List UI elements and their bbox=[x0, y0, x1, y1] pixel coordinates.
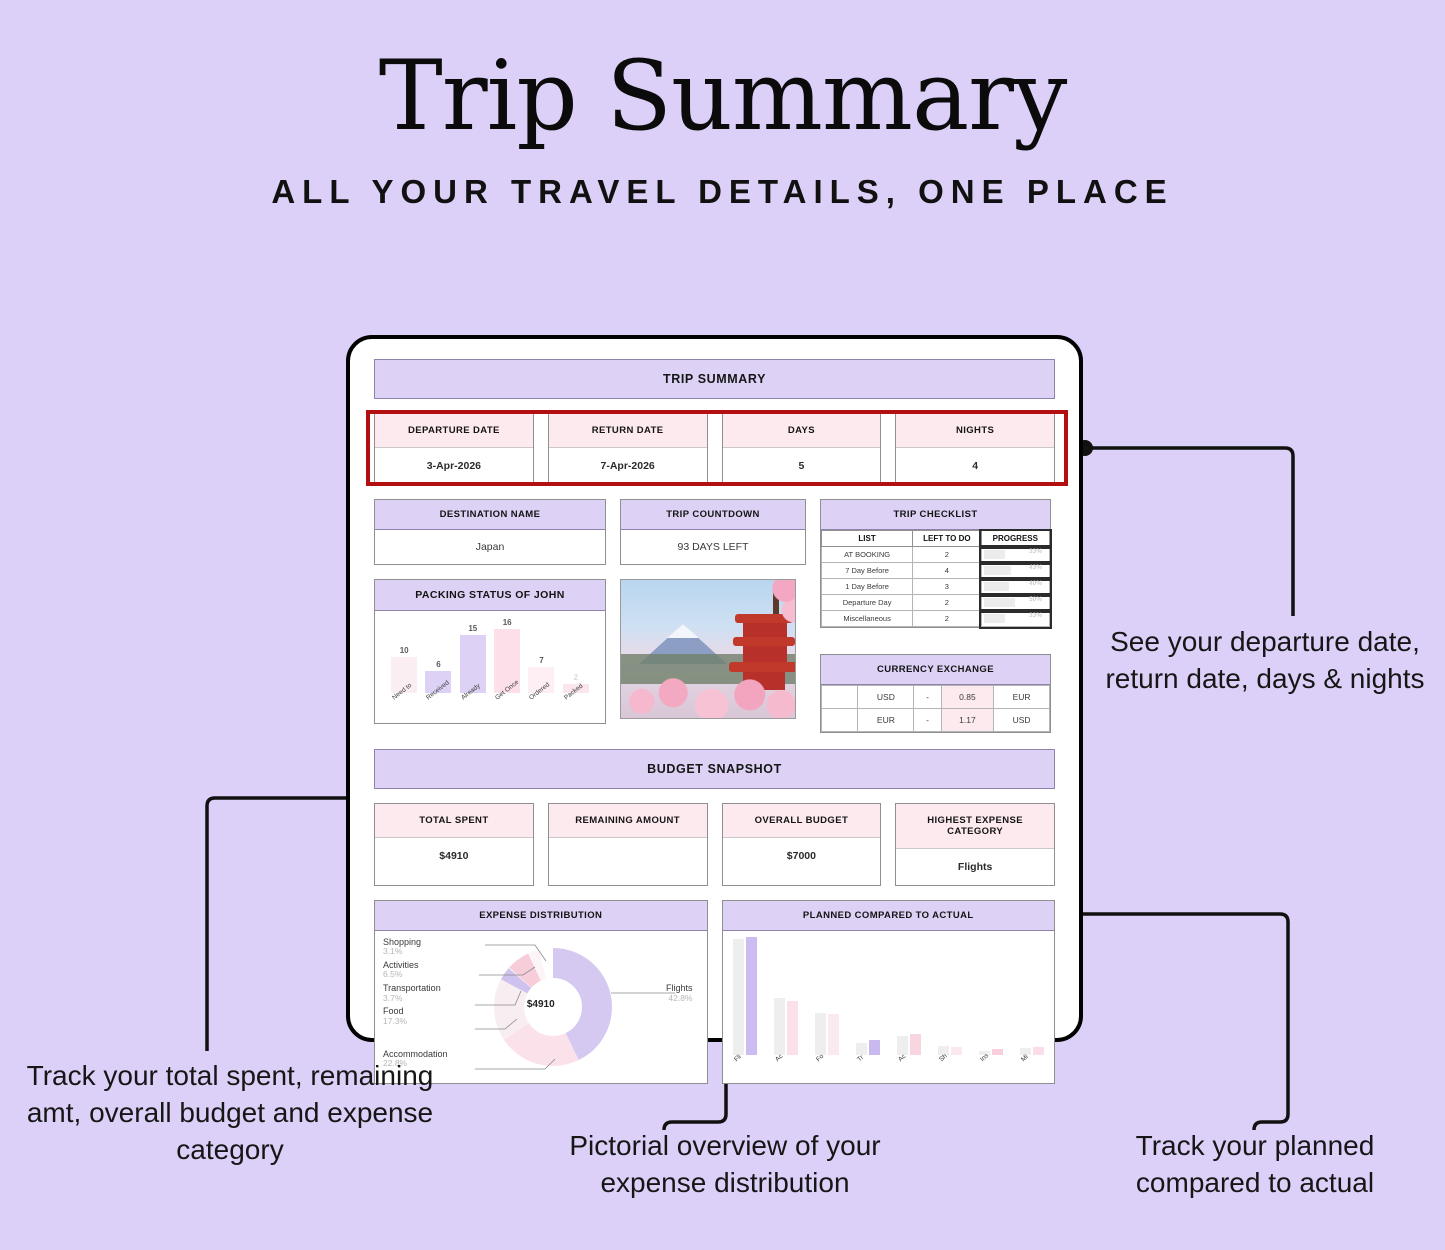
kpi-value: 7-Apr-2026 bbox=[549, 448, 707, 484]
cell-progress: 33% bbox=[981, 611, 1049, 627]
cell-rate: 0.85 bbox=[941, 686, 993, 709]
kpi-value: 5 bbox=[723, 448, 881, 484]
bar-planned bbox=[774, 998, 785, 1055]
currency-exchange-panel[interactable]: CURRENCY EXCHANGE USD - 0.85 EUR EUR - 1… bbox=[820, 654, 1051, 733]
cell-left: 2 bbox=[913, 547, 981, 563]
pva-bars bbox=[733, 937, 1045, 1055]
donut-center-total: $4910 bbox=[375, 999, 707, 1010]
bar-value: 16 bbox=[503, 618, 512, 627]
progress-bar: 50% bbox=[984, 598, 1047, 607]
kpi-value: Flights bbox=[896, 849, 1054, 885]
cell-from: USD bbox=[858, 686, 914, 709]
pva-x-axis: Fli Ac Fo Tr Ac Sh Ins Mi bbox=[733, 1055, 1045, 1081]
legend-label: Transportation bbox=[383, 983, 441, 993]
group-shopping bbox=[938, 937, 962, 1055]
col-progress: PROGRESS bbox=[981, 531, 1049, 547]
page-subtitle: ALL YOUR TRAVEL DETAILS, ONE PLACE bbox=[0, 173, 1445, 211]
progress-label: 40% bbox=[1029, 580, 1042, 587]
currency-table[interactable]: USD - 0.85 EUR EUR - 1.17 USD bbox=[821, 685, 1050, 732]
cell-dash: - bbox=[914, 709, 941, 732]
legend-label: Flights bbox=[666, 983, 693, 993]
kpi-label: OVERALL BUDGET bbox=[723, 804, 881, 838]
cherry-blossoms-foreground bbox=[621, 676, 795, 718]
trip-countdown-panel[interactable]: TRIP COUNTDOWN 93 DAYS LEFT bbox=[620, 499, 806, 565]
charts-row: EXPENSE DISTRIBUTION bbox=[374, 900, 1055, 1084]
kpi-label: TOTAL SPENT bbox=[375, 804, 533, 838]
donut-legend-left: Shopping 3.1% Activities 6.5% Transporta… bbox=[383, 937, 441, 1029]
cell-list: Departure Day bbox=[822, 595, 913, 611]
packing-chart-title: PACKING STATUS OF JOHN bbox=[375, 580, 605, 611]
kpi-total-spent[interactable]: TOTAL SPENT $4910 bbox=[374, 803, 534, 886]
bar-value: 15 bbox=[468, 624, 477, 633]
cell-progress: 50% bbox=[981, 595, 1049, 611]
legend-value: 3.1% bbox=[383, 947, 441, 957]
countdown-label: TRIP COUNTDOWN bbox=[621, 500, 805, 530]
progress-label: 43% bbox=[1029, 564, 1042, 571]
group-insurance bbox=[979, 937, 1003, 1055]
callout-planned: Track your planned compared to actual bbox=[1075, 1128, 1435, 1202]
kpi-label: NIGHTS bbox=[896, 414, 1054, 448]
trip-dates-row: DEPARTURE DATE 3-Apr-2026 RETURN DATE 7-… bbox=[374, 413, 1055, 485]
table-row[interactable]: Miscellaneous 2 33% bbox=[822, 611, 1050, 627]
kpi-value: 3-Apr-2026 bbox=[375, 448, 533, 484]
trip-checklist-panel[interactable]: TRIP CHECKLIST LIST LEFT TO DO PROGRESS … bbox=[820, 499, 1051, 628]
pva-body: Fli Ac Fo Tr Ac Sh Ins Mi bbox=[723, 931, 1055, 1083]
checklist-column: TRIP CHECKLIST LIST LEFT TO DO PROGRESS … bbox=[820, 499, 1051, 733]
progress-fill bbox=[984, 550, 1005, 559]
progress-fill bbox=[984, 582, 1009, 591]
currency-title: CURRENCY EXCHANGE bbox=[821, 655, 1050, 685]
expense-distribution-chart[interactable]: EXPENSE DISTRIBUTION bbox=[374, 900, 708, 1084]
kpi-remaining-amount[interactable]: REMAINING AMOUNT bbox=[548, 803, 708, 886]
pagoda-body-2 bbox=[743, 646, 787, 662]
packing-chart-body: 10 6 15 16 bbox=[375, 611, 605, 723]
progress-bar: 40% bbox=[984, 582, 1047, 591]
kpi-label: REMAINING AMOUNT bbox=[549, 804, 707, 838]
progress-bar: 43% bbox=[984, 566, 1047, 575]
table-header-row: LIST LEFT TO DO PROGRESS bbox=[822, 531, 1050, 547]
group-accommodation bbox=[774, 937, 798, 1055]
mount-fuji-photo bbox=[620, 579, 796, 719]
bar-ordered: 7 bbox=[528, 615, 554, 693]
group-food bbox=[815, 937, 839, 1055]
group-flights bbox=[733, 937, 757, 1055]
cell-from: EUR bbox=[858, 709, 914, 732]
trip-summary-card: TRIP SUMMARY DEPARTURE DATE 3-Apr-2026 R… bbox=[346, 335, 1083, 1042]
callout-expense: Pictorial overview of your expense distr… bbox=[515, 1128, 935, 1202]
planned-vs-actual-chart[interactable]: PLANNED COMPARED TO ACTUAL bbox=[722, 900, 1056, 1084]
countdown-column: TRIP COUNTDOWN 93 DAYS LEFT bbox=[620, 499, 806, 719]
destination-panel[interactable]: DESTINATION NAME Japan bbox=[374, 499, 606, 565]
cell-dash: - bbox=[914, 686, 941, 709]
cell-to: EUR bbox=[994, 686, 1050, 709]
kpi-return-date[interactable]: RETURN DATE 7-Apr-2026 bbox=[548, 413, 708, 485]
progress-bar: 33% bbox=[984, 614, 1047, 623]
table-row[interactable]: 1 Day Before 3 40% bbox=[822, 579, 1050, 595]
pagoda-roof-3 bbox=[729, 662, 796, 672]
progress-label: 50% bbox=[1029, 596, 1042, 603]
info-row: DESTINATION NAME Japan PACKING STATUS OF… bbox=[374, 499, 1055, 733]
cell-list: 7 Day Before bbox=[822, 563, 913, 579]
trip-summary-banner: TRIP SUMMARY bbox=[374, 359, 1055, 399]
checklist-table[interactable]: LIST LEFT TO DO PROGRESS AT BOOKING 2 33… bbox=[821, 530, 1050, 627]
kpi-label: HIGHEST EXPENSE CATEGORY bbox=[896, 804, 1054, 849]
cell-list: 1 Day Before bbox=[822, 579, 913, 595]
kpi-label: RETURN DATE bbox=[549, 414, 707, 448]
cell-to: USD bbox=[994, 709, 1050, 732]
cell-blank bbox=[822, 686, 858, 709]
kpi-value: 4 bbox=[896, 448, 1054, 484]
kpi-label: DEPARTURE DATE bbox=[375, 414, 533, 448]
cell-list: Miscellaneous bbox=[822, 611, 913, 627]
fuji-snowcap bbox=[667, 624, 699, 638]
group-activities bbox=[897, 937, 921, 1055]
progress-fill bbox=[984, 566, 1011, 575]
group-misc bbox=[1020, 937, 1044, 1055]
checklist-title: TRIP CHECKLIST bbox=[821, 500, 1050, 530]
legend-value: 17.3% bbox=[383, 1017, 441, 1027]
bar-value: 10 bbox=[400, 646, 409, 655]
packing-status-chart[interactable]: PACKING STATUS OF JOHN 10 6 15 bbox=[374, 579, 606, 724]
kpi-overall-budget[interactable]: OVERALL BUDGET $7000 bbox=[722, 803, 882, 886]
progress-label: 33% bbox=[1029, 612, 1042, 619]
cherry-blossoms-right bbox=[749, 580, 795, 640]
cell-progress: 40% bbox=[981, 579, 1049, 595]
cell-blank bbox=[822, 709, 858, 732]
kpi-value: $7000 bbox=[723, 838, 881, 874]
packing-bars: 10 6 15 16 bbox=[381, 615, 599, 693]
cell-left: 4 bbox=[913, 563, 981, 579]
group-transportation bbox=[856, 937, 880, 1055]
callout-dates: See your departure date, return date, da… bbox=[1090, 624, 1440, 698]
col-list: LIST bbox=[822, 531, 913, 547]
table-row[interactable]: 7 Day Before 4 43% bbox=[822, 563, 1050, 579]
expense-chart-title: EXPENSE DISTRIBUTION bbox=[375, 901, 707, 931]
progress-bar: 33% bbox=[984, 550, 1047, 559]
bar-planned bbox=[733, 939, 744, 1055]
cell-progress: 33% bbox=[981, 547, 1049, 563]
budget-kpi-row: TOTAL SPENT $4910 REMAINING AMOUNT OVERA… bbox=[374, 803, 1055, 886]
kpi-departure-date[interactable]: DEPARTURE DATE 3-Apr-2026 bbox=[374, 413, 534, 485]
bar-value: 6 bbox=[436, 660, 440, 669]
cell-left: 2 bbox=[913, 595, 981, 611]
legend-activities: Activities 6.5% bbox=[383, 960, 441, 980]
progress-fill bbox=[984, 614, 1005, 623]
bar-value: 2 bbox=[574, 673, 578, 682]
kpi-highest-expense-category[interactable]: HIGHEST EXPENSE CATEGORY Flights bbox=[895, 803, 1055, 886]
kpi-label: DAYS bbox=[723, 414, 881, 448]
packing-x-axis: Need to Received Already Get Once Ordere… bbox=[381, 693, 599, 723]
callout-budget: Track your total spent, remaining amt, o… bbox=[20, 1058, 440, 1169]
destination-column: DESTINATION NAME Japan PACKING STATUS OF… bbox=[374, 499, 606, 724]
legend-shopping: Shopping 3.1% bbox=[383, 937, 441, 957]
destination-value: Japan bbox=[375, 530, 605, 564]
table-row[interactable]: USD - 0.85 EUR bbox=[822, 686, 1050, 709]
progress-fill bbox=[984, 598, 1016, 607]
progress-label: 33% bbox=[1029, 548, 1042, 555]
kpi-nights[interactable]: NIGHTS 4 bbox=[895, 413, 1055, 485]
destination-label: DESTINATION NAME bbox=[375, 500, 605, 530]
bar-actual bbox=[746, 937, 757, 1055]
bar-value: 7 bbox=[539, 656, 543, 665]
cell-left: 3 bbox=[913, 579, 981, 595]
page-title: Trip Summary bbox=[0, 46, 1445, 147]
pva-chart-title: PLANNED COMPARED TO ACTUAL bbox=[723, 901, 1055, 931]
budget-snapshot-banner: BUDGET SNAPSHOT bbox=[374, 749, 1055, 789]
col-left-to-do: LEFT TO DO bbox=[913, 531, 981, 547]
table-row[interactable]: Departure Day 2 50% bbox=[822, 595, 1050, 611]
cell-list: AT BOOKING bbox=[822, 547, 913, 563]
legend-value: 6.5% bbox=[383, 970, 441, 980]
kpi-value bbox=[549, 838, 707, 874]
countdown-value: 93 DAYS LEFT bbox=[621, 530, 805, 564]
table-row[interactable]: EUR - 1.17 USD bbox=[822, 709, 1050, 732]
table-row[interactable]: AT BOOKING 2 33% bbox=[822, 547, 1050, 563]
kpi-value: $4910 bbox=[375, 838, 533, 874]
cell-left: 2 bbox=[913, 611, 981, 627]
cell-rate: 1.17 bbox=[941, 709, 993, 732]
cell-progress: 43% bbox=[981, 563, 1049, 579]
kpi-days[interactable]: DAYS 5 bbox=[722, 413, 882, 485]
